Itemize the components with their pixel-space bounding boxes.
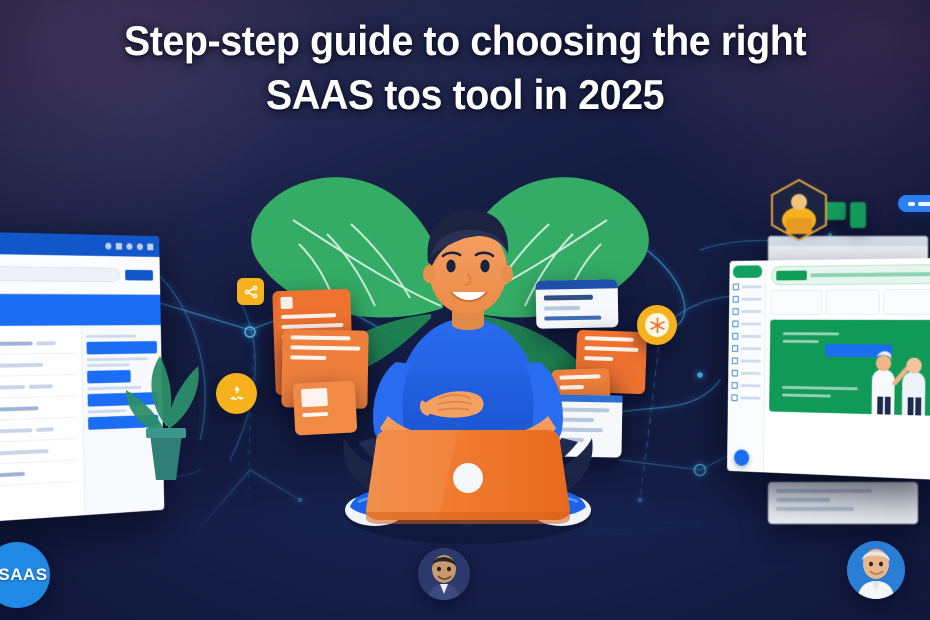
- calendar-icon: [732, 345, 738, 352]
- bell-icon[interactable]: [105, 242, 111, 249]
- status-badge: [776, 271, 807, 281]
- chat-icon[interactable]: [734, 449, 749, 466]
- file-icon: [732, 357, 738, 364]
- stat-card[interactable]: [826, 289, 880, 315]
- home-icon: [733, 284, 739, 291]
- card-icon: [280, 297, 292, 309]
- list-icon: [732, 321, 738, 328]
- settings-icon[interactable]: [126, 243, 132, 250]
- sidebar-item[interactable]: [731, 394, 760, 401]
- left-dashboard-toolbar: [0, 254, 160, 295]
- table-row[interactable]: [0, 354, 76, 377]
- sidebar-item[interactable]: [732, 345, 761, 352]
- left-dashboard-section-header: [0, 294, 161, 326]
- table-row[interactable]: [0, 375, 76, 399]
- folder-icon: [732, 308, 738, 315]
- table-row[interactable]: [0, 460, 78, 486]
- share-nodes-icon[interactable]: [237, 278, 264, 305]
- tag-icon: [732, 382, 738, 389]
- left-dashboard-titlebar: [0, 232, 159, 257]
- hero-banner-card[interactable]: [769, 320, 930, 416]
- headline-line-1: Step-step guide to choosing the right: [37, 14, 892, 68]
- potted-plant: [120, 330, 206, 520]
- cart-icon[interactable]: [116, 242, 122, 249]
- people-illustration: [857, 345, 930, 416]
- left-dashboard-table[interactable]: [0, 325, 84, 521]
- sidebar-item[interactable]: [732, 370, 761, 377]
- device-bar-mockup[interactable]: [768, 482, 918, 524]
- green-chip[interactable]: [850, 202, 866, 228]
- headline-line-2: SAAS tos tool in 2025: [37, 68, 892, 122]
- hero-banner: SAAS: [0, 0, 930, 620]
- chart-icon: [733, 296, 739, 303]
- menu-icon[interactable]: [147, 243, 153, 250]
- right-dashboard-sidebar[interactable]: [727, 260, 767, 472]
- saas-badge-label: SAAS: [0, 565, 48, 585]
- right-dashboard-mockup[interactable]: [727, 258, 930, 480]
- sidebar-item[interactable]: [732, 308, 761, 315]
- stat-card[interactable]: [883, 289, 930, 315]
- search-input[interactable]: [0, 266, 120, 282]
- sidebar-item[interactable]: [733, 296, 762, 303]
- box-icon: [732, 370, 738, 377]
- user-icon[interactable]: [137, 243, 143, 250]
- avatar-bottom-right[interactable]: [847, 541, 905, 599]
- right-dashboard-main: [764, 258, 930, 480]
- sidebar-item[interactable]: [732, 382, 761, 389]
- hexagon-portrait-frame[interactable]: [768, 178, 830, 242]
- stat-card[interactable]: [770, 290, 822, 315]
- right-dashboard-cards: [770, 289, 930, 315]
- gear-icon: [731, 394, 737, 401]
- recycle-icon[interactable]: [216, 373, 257, 414]
- sidebar-item[interactable]: [732, 333, 761, 340]
- sidebar-item[interactable]: [733, 283, 762, 290]
- avatar-bottom-center[interactable]: [418, 548, 470, 600]
- sidebar-item[interactable]: [732, 321, 761, 328]
- top-right-pill-button[interactable]: [898, 195, 930, 212]
- right-dashboard-header[interactable]: [771, 264, 930, 285]
- clock-icon: [732, 333, 738, 340]
- page-title: Step-step guide to choosing the right SA…: [0, 14, 930, 122]
- seated-man-with-laptop: [318, 192, 618, 560]
- network-hub-icon[interactable]: [637, 305, 677, 345]
- table-row[interactable]: [0, 332, 76, 355]
- app-logo: [733, 265, 762, 278]
- sidebar-item[interactable]: [732, 357, 761, 364]
- primary-action-button[interactable]: [125, 270, 153, 281]
